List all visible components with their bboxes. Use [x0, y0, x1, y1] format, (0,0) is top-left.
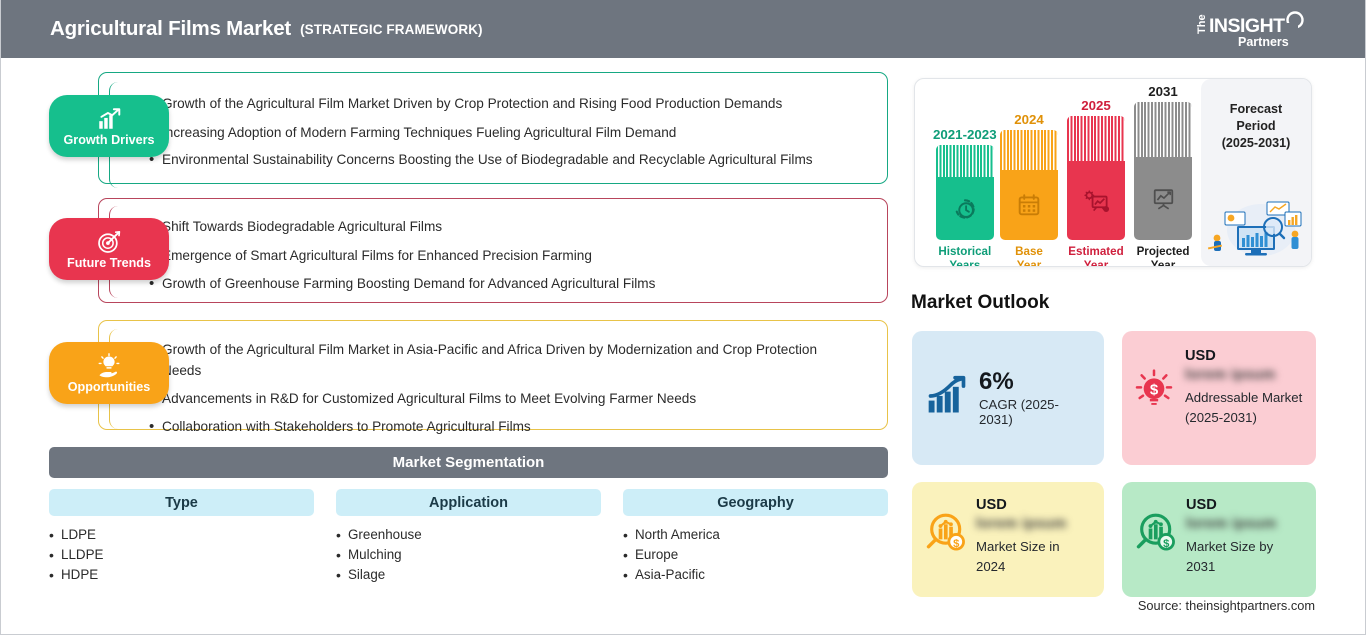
- list-item: •Mulching: [336, 545, 601, 565]
- bar-shape: [1067, 116, 1125, 240]
- list-item: •North America: [623, 525, 888, 545]
- card-label: Market Size in 2024: [976, 537, 1092, 577]
- bullet-text: Shift Towards Biodegradable Agricultural…: [162, 217, 849, 238]
- list-item: • Environmental Sustainability Concerns …: [149, 150, 849, 171]
- list-item: •Greenhouse: [336, 525, 601, 545]
- bullet-icon: •: [49, 525, 61, 545]
- bar-shape: [1134, 102, 1192, 240]
- card-body: USD lorem ipsum Addressable Market (2025…: [1185, 348, 1304, 452]
- list-item: • Growth of the Agricultural Film Market…: [149, 340, 849, 381]
- list-item-label: LLDPE: [61, 545, 103, 565]
- bar-caption: ProjectedYear: [1137, 245, 1190, 267]
- card-label: Market Size by 2031: [1186, 537, 1304, 577]
- panel-future-trends-body: • Shift Towards Biodegradable Agricultur…: [149, 217, 849, 303]
- bullet-icon: •: [336, 525, 348, 545]
- bullet-text: Environmental Sustainability Concerns Bo…: [162, 150, 849, 171]
- badge-opportunities[interactable]: Opportunities: [49, 342, 169, 404]
- svg-text:$: $: [1163, 538, 1170, 550]
- bar-stripe-pattern: [1134, 102, 1192, 157]
- outlook-card-cagr[interactable]: 6% CAGR (2025-2031): [912, 331, 1104, 465]
- list-item-label: Greenhouse: [348, 525, 422, 545]
- market-outlook-title: Market Outlook: [911, 292, 1049, 314]
- svg-text:$: $: [953, 538, 960, 550]
- list-item: • Collaboration with Stakeholders to Pro…: [149, 417, 849, 438]
- bar-chart-growth-icon: [924, 374, 970, 418]
- forecast-line-3: (2025-2031): [1201, 135, 1311, 152]
- target-dartboard-icon: [96, 229, 122, 255]
- badge-label: Growth Drivers: [64, 133, 155, 147]
- outlook-card-market-size-2024[interactable]: $ USD lorem ipsum Market Size in 2024: [912, 482, 1104, 597]
- bullet-icon: •: [623, 545, 635, 565]
- data-analysis-illustration: [1203, 196, 1309, 258]
- bullet-text: Emergence of Smart Agricultural Films fo…: [162, 246, 849, 267]
- magnifier-chart-dollar-icon: $: [924, 511, 966, 553]
- bullet-text: Advancements in R&D for Customized Agric…: [162, 389, 849, 410]
- currency-label: USD: [1186, 497, 1304, 513]
- hidden-value-blurred: lorem ipsum: [1186, 516, 1304, 532]
- lightbulb-hand-icon: [96, 353, 122, 379]
- list-item: • Growth of the Agricultural Film Market…: [149, 94, 849, 115]
- list-item-label: Asia-Pacific: [635, 565, 705, 585]
- hidden-value-blurred: lorem ipsum: [1185, 367, 1304, 383]
- segmentation-list: •Greenhouse •Mulching •Silage: [336, 525, 601, 585]
- forecast-period-text: Forecast Period (2025-2031): [1201, 101, 1311, 152]
- bar-chart-arrow-icon: [96, 106, 122, 132]
- bullet-icon: •: [623, 565, 635, 585]
- list-item: • Emergence of Smart Agricultural Films …: [149, 246, 849, 267]
- segmentation-column-label: Application: [429, 495, 508, 511]
- badge-growth-drivers[interactable]: Growth Drivers: [49, 95, 169, 157]
- bullet-text: Increasing Adoption of Modern Farming Te…: [162, 123, 849, 144]
- bar-base-year: 2024: [1000, 112, 1058, 267]
- logo-icon: The INSIGHT Partners: [1191, 8, 1309, 50]
- list-item-label: HDPE: [61, 565, 98, 585]
- segmentation-column-type: Type •LDPE •LLDPE •HDPE: [49, 489, 314, 585]
- card-icon-wrap: $: [1134, 511, 1176, 584]
- svg-text:$: $: [1150, 382, 1159, 399]
- bullet-icon: •: [623, 525, 635, 545]
- bullet-text: Growth of the Agricultural Film Market i…: [162, 340, 849, 381]
- bar-year-label: 2021-2023: [933, 127, 997, 142]
- list-item: •LDPE: [49, 525, 314, 545]
- card-body: USD lorem ipsum Market Size by 2031: [1186, 497, 1304, 584]
- badge-future-trends[interactable]: Future Trends: [49, 218, 169, 280]
- svg-text:The: The: [1196, 14, 1208, 34]
- currency-label: USD: [976, 497, 1092, 513]
- segmentation-column-application: Application •Greenhouse •Mulching •Silag…: [336, 489, 601, 585]
- market-segmentation-header: Market Segmentation: [49, 447, 888, 478]
- cagr-value: 6%: [979, 369, 1092, 395]
- card-icon-wrap: $: [1134, 368, 1174, 452]
- page-subtitle: (STRATEGIC FRAMEWORK): [300, 22, 483, 37]
- segmentation-column-header: Application: [336, 489, 601, 516]
- bar-solid-body: [1000, 170, 1058, 240]
- outlook-card-addressable-market[interactable]: $ USD lorem ipsum Addressable Market (20…: [1122, 331, 1316, 465]
- panel-opportunities-body: • Growth of the Agricultural Film Market…: [149, 340, 849, 445]
- list-item-label: Mulching: [348, 545, 402, 565]
- bullet-text: Growth of the Agricultural Film Market D…: [162, 94, 849, 115]
- forecast-line-1: Forecast: [1201, 101, 1311, 118]
- bullet-icon: •: [336, 565, 348, 585]
- segmentation-list: •North America •Europe •Asia-Pacific: [623, 525, 888, 585]
- bar-year-label: 2031: [1148, 84, 1178, 99]
- segmentation-column-header: Geography: [623, 489, 888, 516]
- cagr-label: CAGR (2025-2031): [979, 397, 1092, 427]
- badge-label: Future Trends: [67, 256, 151, 270]
- forecast-line-2: Period: [1201, 118, 1311, 135]
- bullet-icon: •: [149, 417, 162, 438]
- outlook-card-market-size-2031[interactable]: $ USD lorem ipsum Market Size by 2031: [1122, 482, 1316, 597]
- segmentation-column-geography: Geography •North America •Europe •Asia-P…: [623, 489, 888, 585]
- source-attribution: Source: theinsightpartners.com: [1138, 598, 1315, 613]
- bar-estimated-year: 2025 EstimatedYear: [1067, 98, 1125, 267]
- calendar-icon: [1016, 192, 1042, 218]
- magnifier-chart-dollar-icon: $: [1134, 511, 1176, 553]
- list-item: • Growth of Greenhouse Farming Boosting …: [149, 274, 849, 295]
- bar-projected-year: 2031 ProjectedYear: [1134, 84, 1192, 267]
- presentation-chart-icon: [1150, 185, 1177, 212]
- list-item: •Silage: [336, 565, 601, 585]
- bar-historical-years: 2021-2023 HistoricalYears: [933, 127, 997, 267]
- segmentation-column-header: Type: [49, 489, 314, 516]
- bullet-text: Growth of Greenhouse Farming Boosting De…: [162, 274, 849, 295]
- lightbulb-dollar-icon: $: [1134, 368, 1174, 408]
- page-title: Agricultural Films Market: [50, 17, 291, 41]
- card-body: USD lorem ipsum Market Size in 2024: [976, 497, 1092, 584]
- bar-caption: BaseYear: [1015, 245, 1043, 267]
- bar-year-label: 2025: [1081, 98, 1111, 113]
- segmentation-list: •LDPE •LLDPE •HDPE: [49, 525, 314, 585]
- bar-year-label: 2024: [1014, 112, 1044, 127]
- market-segmentation-title: Market Segmentation: [393, 454, 545, 471]
- bar-solid-body: [1134, 157, 1192, 240]
- list-item: •Asia-Pacific: [623, 565, 888, 585]
- svg-text:Partners: Partners: [1238, 35, 1289, 49]
- segmentation-column-label: Type: [165, 495, 198, 511]
- card-icon-wrap: [924, 374, 970, 423]
- bullet-icon: •: [49, 545, 61, 565]
- card-icon-wrap: $: [924, 511, 966, 584]
- bar-shape: [1000, 130, 1058, 240]
- insight-partners-logo: The INSIGHT Partners: [1191, 8, 1309, 50]
- list-item: • Increasing Adoption of Modern Farming …: [149, 123, 849, 144]
- bar-solid-body: [1067, 161, 1125, 240]
- bar-stripe-pattern: [936, 145, 994, 177]
- card-body: 6% CAGR (2025-2031): [979, 369, 1092, 427]
- panel-growth-drivers-body: • Growth of the Agricultural Film Market…: [149, 94, 849, 179]
- list-item: • Advancements in R&D for Customized Agr…: [149, 389, 849, 410]
- page-header: Agricultural Films Market (STRATEGIC FRA…: [1, 0, 1366, 58]
- study-period-timeline-chart: Forecast Period (2025-2031): [914, 78, 1312, 267]
- list-item: • Shift Towards Biodegradable Agricultur…: [149, 217, 849, 238]
- bullet-icon: •: [49, 565, 61, 585]
- list-item: •HDPE: [49, 565, 314, 585]
- clock-history-icon: [952, 196, 978, 222]
- svg-text:INSIGHT: INSIGHT: [1209, 15, 1285, 37]
- bar-stripe-pattern: [1000, 130, 1058, 170]
- list-item-label: Europe: [635, 545, 678, 565]
- bar-caption: HistoricalYears: [938, 245, 991, 267]
- analytics-gear-icon: [1083, 187, 1110, 214]
- list-item-label: Silage: [348, 565, 385, 585]
- list-item-label: LDPE: [61, 525, 96, 545]
- bar-caption: EstimatedYear: [1068, 245, 1123, 267]
- badge-label: Opportunities: [68, 380, 151, 394]
- bar-shape: [936, 145, 994, 240]
- list-item: •LLDPE: [49, 545, 314, 565]
- bullet-text: Collaboration with Stakeholders to Promo…: [162, 417, 849, 438]
- bar-stripe-pattern: [1067, 116, 1125, 161]
- segmentation-column-label: Geography: [717, 495, 794, 511]
- bullet-icon: •: [336, 545, 348, 565]
- infographic-canvas: Agricultural Films Market (STRATEGIC FRA…: [0, 0, 1366, 635]
- bar-solid-body: [936, 177, 994, 240]
- list-item-label: North America: [635, 525, 720, 545]
- card-label: Addressable Market (2025-2031): [1185, 388, 1304, 428]
- list-item: •Europe: [623, 545, 888, 565]
- currency-label: USD: [1185, 348, 1304, 364]
- hidden-value-blurred: lorem ipsum: [976, 516, 1092, 532]
- forecast-period-panel: Forecast Period (2025-2031): [1201, 79, 1311, 266]
